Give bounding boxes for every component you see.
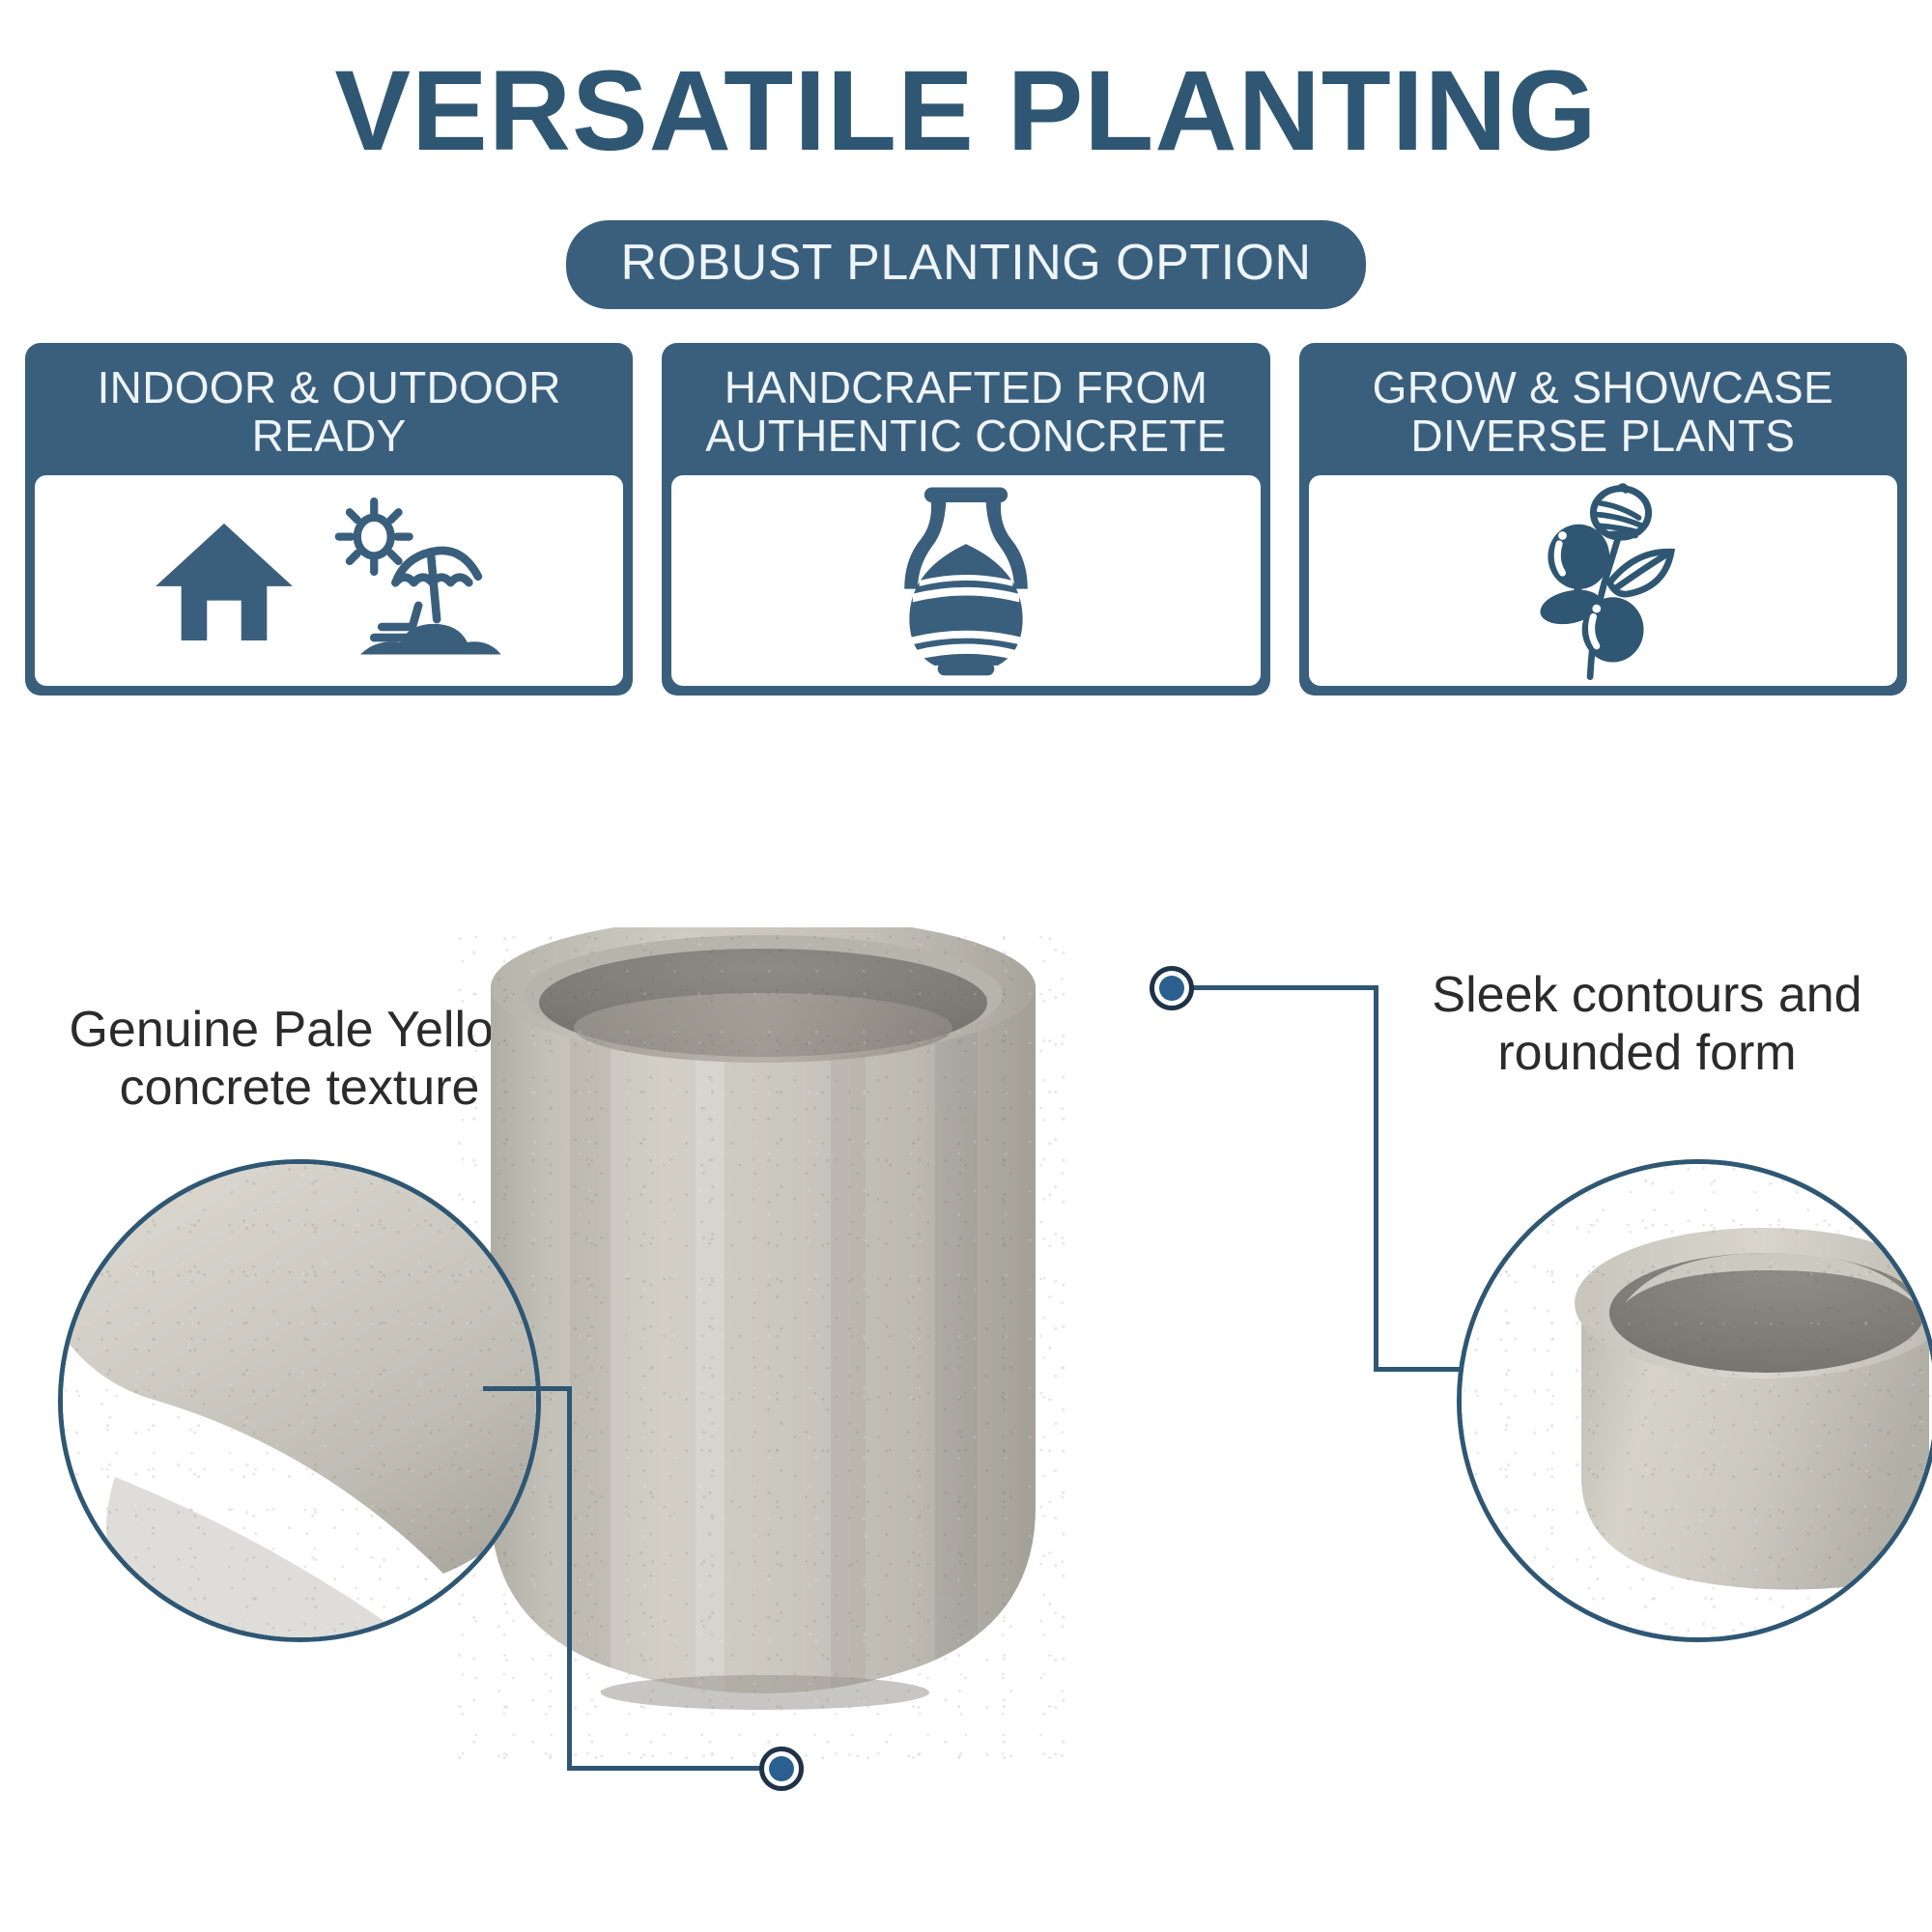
vase-icon — [889, 484, 1043, 677]
connector-line-left-vertical — [567, 1386, 572, 1771]
connector-line-left-horizontal — [567, 1766, 784, 1771]
status-badge: ROBUST PLANTING OPTION — [566, 220, 1365, 309]
badge-row: ROBUST PLANTING OPTION — [0, 220, 1932, 309]
connector-line-right-stub — [1374, 1367, 1461, 1372]
detail-zoom-circle-texture — [58, 1159, 541, 1642]
connector-line-right-vertical — [1374, 985, 1378, 1372]
feature-card-title: GROW & SHOWCASE DIVERSE PLANTS — [1309, 353, 1897, 475]
page-title: VERSATILE PLANTING — [0, 50, 1932, 173]
feature-card-title: HANDCRAFTED FROM AUTHENTIC CONCRETE — [671, 353, 1260, 475]
feature-card-icons — [671, 475, 1260, 686]
feature-card-icons — [35, 475, 623, 686]
sun-icon — [338, 501, 409, 572]
umbrella-icon — [395, 551, 478, 619]
beach-umbrella-icon — [324, 497, 507, 666]
connector-line-right-horizontal — [1171, 985, 1378, 990]
striped-berry — [1593, 486, 1648, 537]
berry-branch-icon — [1519, 482, 1688, 680]
callout-label-contours: Sleek contours and rounded form — [1372, 966, 1922, 1083]
hotspot-dot-rim[interactable] — [1150, 966, 1194, 1010]
hotspot-dot-base[interactable] — [759, 1747, 804, 1791]
berry-upper — [1548, 525, 1609, 589]
feature-card-row: INDOOR & OUTDOOR READY — [25, 343, 1907, 696]
connector-line-left-stub — [483, 1386, 572, 1391]
feature-card-title: INDOOR & OUTDOOR READY — [35, 353, 623, 475]
feature-card-indoor-outdoor[interactable]: INDOOR & OUTDOOR READY — [25, 343, 633, 696]
house-icon — [152, 518, 297, 643]
detail-zoom-circle-contours — [1457, 1159, 1932, 1642]
product-planter-image — [454, 927, 1072, 1777]
leaf — [1609, 552, 1671, 594]
infographic-page: VERSATILE PLANTING ROBUST PLANTING OPTIO… — [0, 0, 1932, 1932]
berry-lower — [1581, 597, 1643, 662]
feature-card-handcrafted-concrete[interactable]: HANDCRAFTED FROM AUTHENTIC CONCRETE — [662, 343, 1269, 696]
feature-card-diverse-plants[interactable]: GROW & SHOWCASE DIVERSE PLANTS — [1299, 343, 1907, 696]
feature-card-icons — [1309, 475, 1897, 686]
